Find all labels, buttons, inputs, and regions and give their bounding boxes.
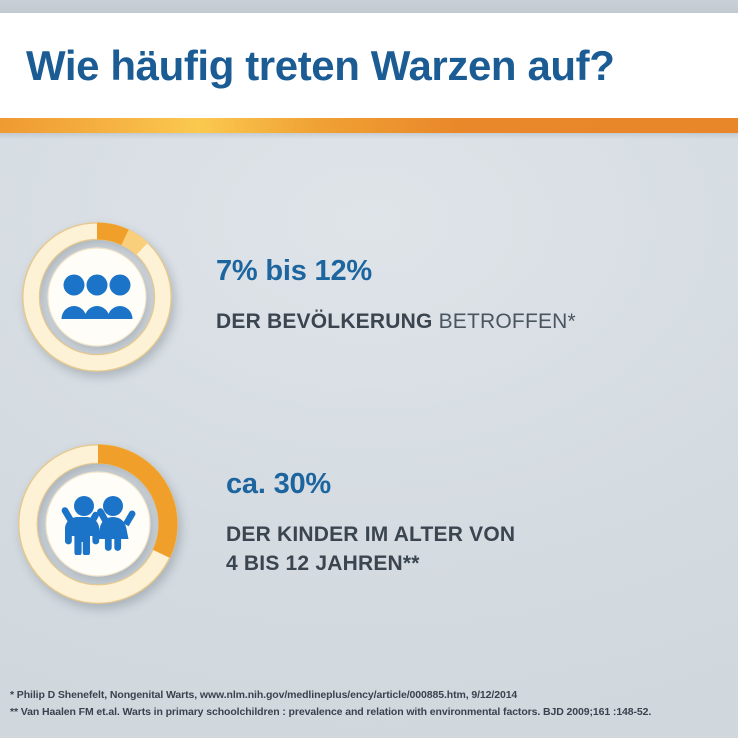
stat-label-bold-population: DER BEVÖLKERUNG	[216, 310, 433, 333]
infographic-poster: Wie häufig treten Warzen auf?	[0, 0, 738, 738]
band-drop-shadow	[0, 133, 738, 139]
stat-value-population: 7% bis 12%	[216, 257, 576, 286]
footnote-2: ** Van Haalen FM et.al. Warts in primary…	[10, 704, 734, 720]
stat-label-light-population: BETROFFEN*	[439, 310, 576, 333]
stat-value-children: ca. 30%	[226, 470, 515, 499]
stat-text-population: 7% bis 12% DER BEVÖLKERUNG BETROFFEN*	[216, 257, 576, 336]
stat-row-children: ca. 30% DER KINDER IM ALTER VON 4 BIS 12…	[18, 444, 515, 604]
stat-label-children: DER KINDER IM ALTER VON 4 BIS 12 JAHREN*…	[226, 521, 515, 578]
donut-chart-population	[22, 222, 172, 372]
orange-divider-band	[0, 118, 738, 133]
stat-label-bold-children-line1: DER KINDER IM ALTER VON	[226, 521, 515, 549]
donut-chart-children	[18, 444, 178, 604]
stat-text-children: ca. 30% DER KINDER IM ALTER VON 4 BIS 12…	[226, 470, 515, 578]
top-edge-strip	[0, 0, 738, 13]
stat-label-bold-children-line2: 4 BIS 12 JAHREN**	[226, 550, 515, 578]
page-title: Wie häufig treten Warzen auf?	[26, 42, 615, 90]
stat-row-population: 7% bis 12% DER BEVÖLKERUNG BETROFFEN*	[22, 222, 576, 372]
header-bar: Wie häufig treten Warzen auf?	[0, 13, 738, 118]
footnotes-block: * Philip D Shenefelt, Nongenital Warts, …	[10, 687, 734, 720]
footnote-1: * Philip D Shenefelt, Nongenital Warts, …	[10, 687, 734, 703]
stat-label-population: DER BEVÖLKERUNG BETROFFEN*	[216, 308, 576, 336]
